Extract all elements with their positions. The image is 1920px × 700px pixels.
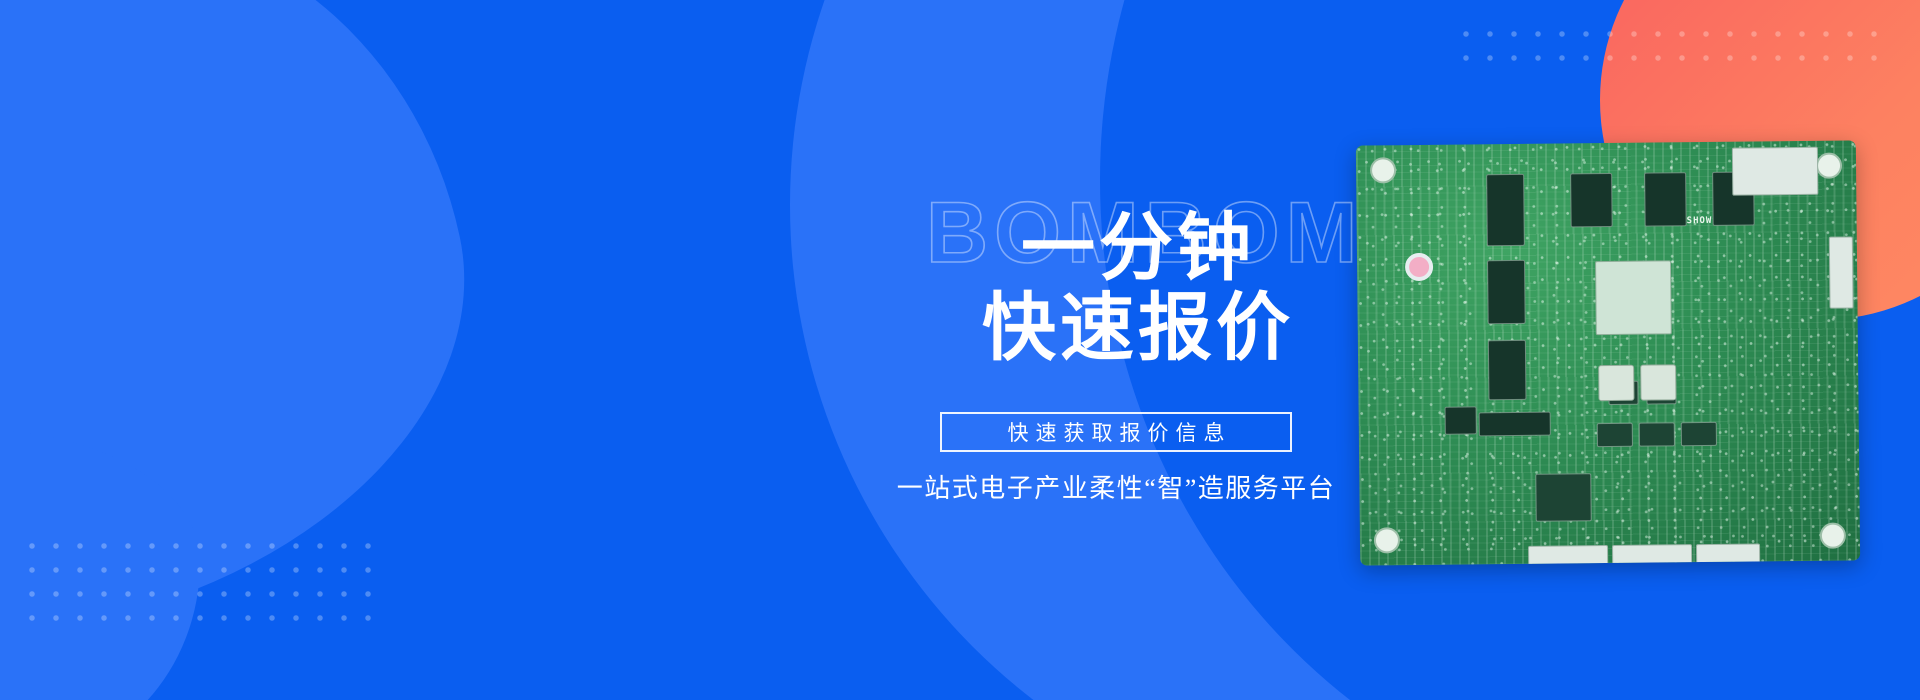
banner-copy-block: BOMBOM 一分钟 快速报价 快速获取报价信息 一站式电子产业柔性“智”造服务… bbox=[0, 0, 1920, 700]
headline-line-1: 一分钟 bbox=[928, 208, 1348, 288]
page-title: 一分钟 快速报价 bbox=[928, 208, 1348, 368]
promo-banner: SHOW BOMBOM 一分钟 快速报价 快速获取报价信息 一站式电子产业柔性“… bbox=[0, 0, 1920, 700]
tagline-text: 一站式电子产业柔性“智”造服务平台 bbox=[856, 468, 1376, 505]
cta-box-label: 快速获取报价信息 bbox=[1001, 417, 1232, 447]
cta-box[interactable]: 快速获取报价信息 bbox=[940, 412, 1292, 452]
headline-line-2: 快速报价 bbox=[928, 288, 1348, 368]
